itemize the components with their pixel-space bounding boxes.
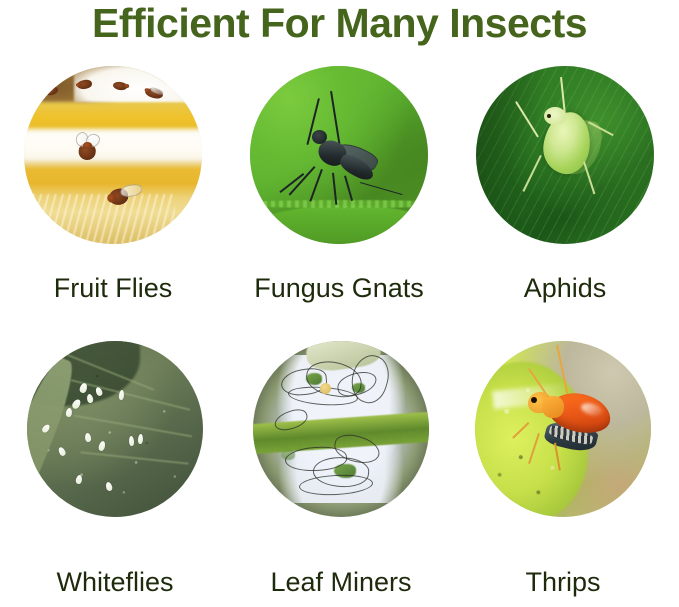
- leaf-serration: [250, 200, 428, 209]
- leaf-miners-scene: [253, 341, 429, 517]
- insect-card-aphids[interactable]: Aphids: [452, 66, 678, 332]
- thrips-scene: [475, 341, 651, 517]
- insect-photo-leaf-miners: [253, 341, 429, 517]
- page-title: Efficient For Many Insects: [0, 0, 679, 44]
- fruit-flies-scene: [24, 66, 202, 244]
- insect-photo-whiteflies: [27, 341, 203, 517]
- insect-photo-fungus-gnats: [250, 66, 428, 244]
- insect-label-leaf-miners: Leaf Miners: [228, 569, 454, 604]
- fungus-gnats-scene: [250, 66, 428, 244]
- insect-photo-thrips: [475, 341, 651, 517]
- insect-row: Whiteflies: [0, 341, 679, 607]
- insect-card-whiteflies[interactable]: Whiteflies: [2, 341, 228, 607]
- insect-card-leaf-miners[interactable]: Leaf Miners: [228, 341, 454, 607]
- insect-label-whiteflies: Whiteflies: [2, 569, 228, 604]
- banana-white-band: [24, 130, 202, 160]
- thrips-pronotum: [542, 396, 564, 418]
- insect-label-aphids: Aphids: [452, 275, 678, 310]
- insect-label-thrips: Thrips: [450, 569, 676, 604]
- insect-card-thrips[interactable]: Thrips: [450, 341, 676, 607]
- insect-photo-aphids: [476, 66, 654, 244]
- aphids-scene: [476, 66, 654, 244]
- insect-label-fungus-gnats: Fungus Gnats: [226, 275, 452, 310]
- insect-label-fruit-flies: Fruit Flies: [0, 275, 226, 310]
- insect-card-fungus-gnats[interactable]: Fungus Gnats: [226, 66, 452, 332]
- banana-fibers: [33, 194, 175, 244]
- insect-photo-fruit-flies: [24, 66, 202, 244]
- insect-row: Fruit Flies: [0, 66, 679, 332]
- banana-highlight: [74, 66, 202, 102]
- insect-grid: Fruit Flies: [0, 66, 679, 607]
- fruit-fly-center: [78, 133, 97, 160]
- insect-card-fruit-flies[interactable]: Fruit Flies: [0, 66, 226, 332]
- whiteflies-scene: [27, 341, 203, 517]
